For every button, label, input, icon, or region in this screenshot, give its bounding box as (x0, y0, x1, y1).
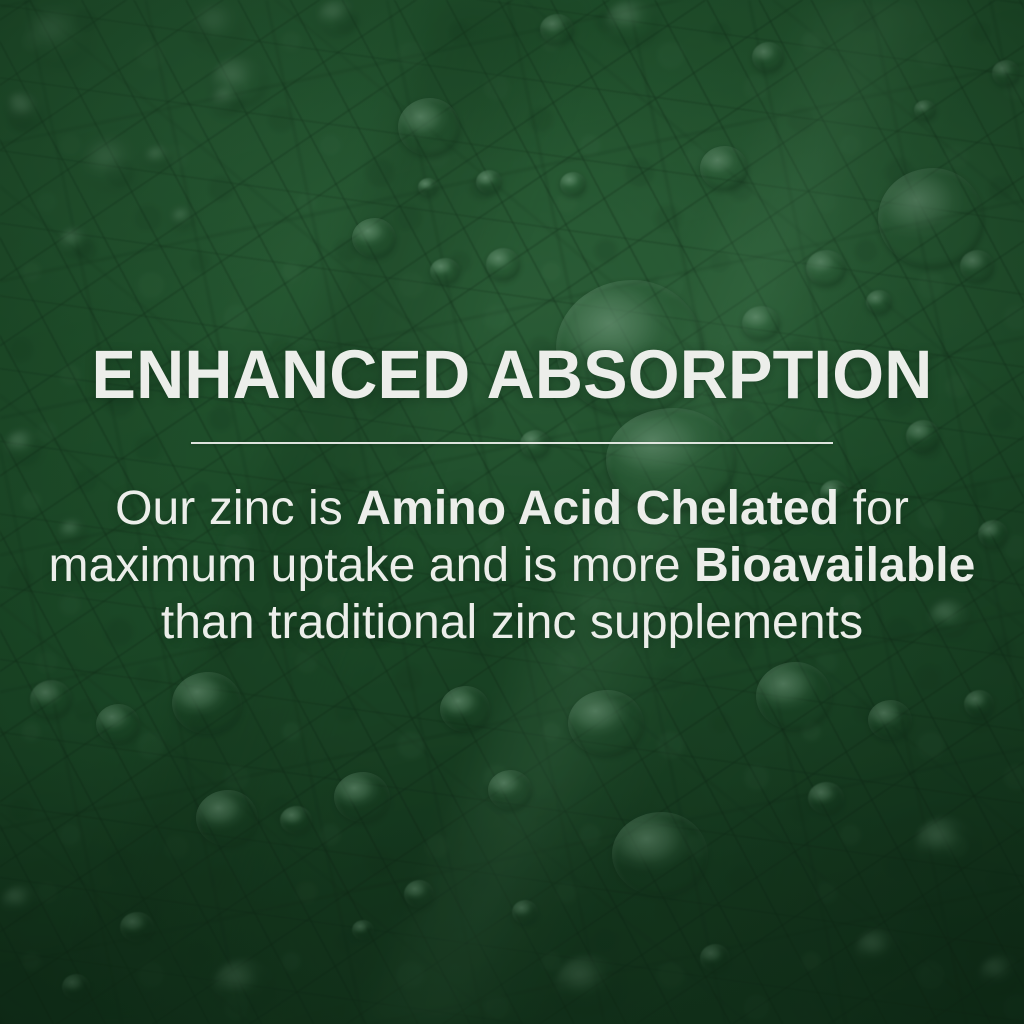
body-line-2: maximum uptake and is more Bioavailable (18, 537, 1006, 594)
body-line-1-bold: Amino Acid Chelated (356, 482, 839, 535)
banner-text-block: ENHANCED ABSORPTION Our zinc is Amino Ac… (0, 338, 1024, 651)
promo-banner: ENHANCED ABSORPTION Our zinc is Amino Ac… (0, 0, 1024, 1024)
body-line-2-bold: Bioavailable (694, 539, 975, 592)
divider-wrapper (18, 442, 1006, 444)
body-line-1-post: for (839, 482, 909, 535)
headline-enhanced-absorption: ENHANCED ABSORPTION (35, 338, 988, 412)
body-line-1-pre: Our zinc is (115, 482, 356, 535)
body-line-2-pre: maximum uptake and is more (49, 539, 695, 592)
body-line-3-pre: than traditional zinc supplements (161, 596, 863, 649)
body-line-3: than traditional zinc supplements (18, 594, 1006, 651)
body-copy: Our zinc is Amino Acid Chelated for maxi… (18, 480, 1006, 651)
horizontal-rule-divider (191, 442, 833, 444)
body-line-1: Our zinc is Amino Acid Chelated for (18, 480, 1006, 537)
